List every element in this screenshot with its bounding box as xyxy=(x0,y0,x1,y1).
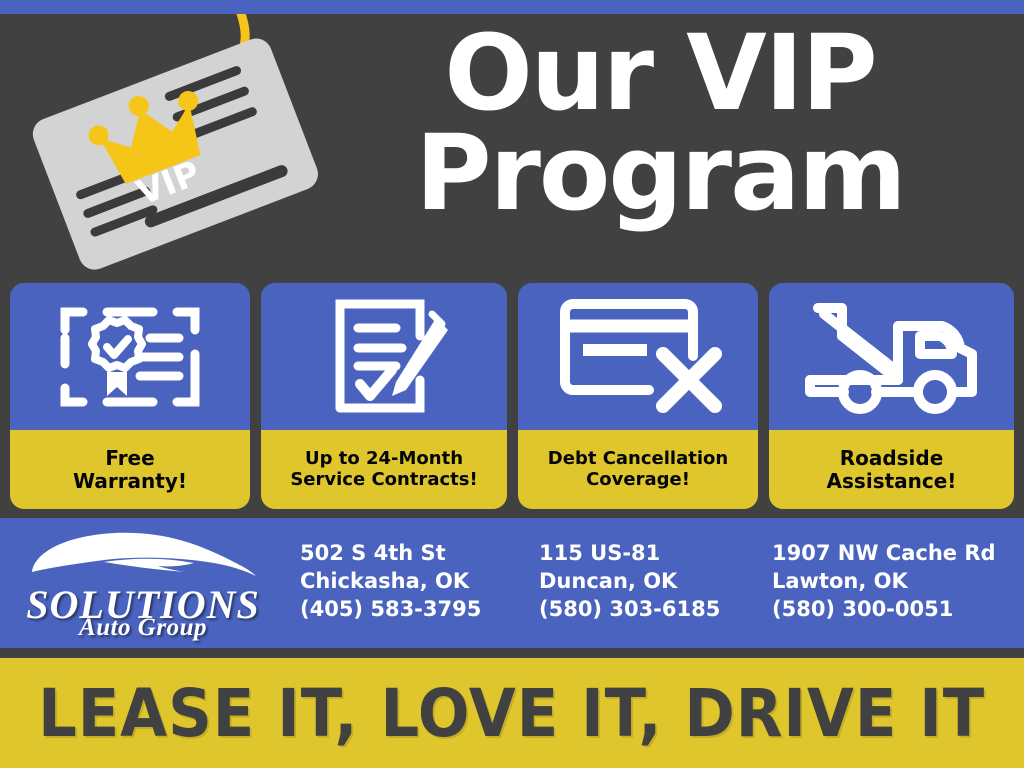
credit-card-cancel-icon xyxy=(553,296,723,418)
document-lines xyxy=(358,328,402,366)
location-street: 1907 NW Cache Rd xyxy=(772,540,996,568)
location-street: 115 US-81 xyxy=(539,540,720,568)
tow-truck-icon xyxy=(802,296,982,418)
location-chickasha[interactable]: 502 S 4th St Chickasha, OK (405) 583-379… xyxy=(300,540,481,624)
location-city: Duncan, OK xyxy=(539,568,720,596)
tagline-band: LEASE IT, LOVE IT, DRIVE IT xyxy=(0,658,1024,768)
location-lawton[interactable]: 1907 NW Cache Rd Lawton, OK (580) 300-00… xyxy=(772,540,996,624)
page-title-line2: Program xyxy=(360,124,960,224)
feature-label-line1: Free xyxy=(105,446,154,470)
contract-pen-icon xyxy=(314,296,454,418)
car-silhouette-logo-icon xyxy=(18,526,268,586)
vip-card-illustration: VIP xyxy=(10,14,340,276)
award-seal xyxy=(92,320,142,396)
document-outline xyxy=(340,304,420,408)
brand-logo[interactable]: SOLUTIONS Auto Group xyxy=(18,526,268,640)
location-city: Lawton, OK xyxy=(772,568,996,596)
feature-card-label: Up to 24-Month Service Contracts! xyxy=(261,430,507,509)
feature-card-icon-slot xyxy=(769,283,1014,430)
brand-subtitle: Auto Group xyxy=(18,614,268,642)
location-phone[interactable]: (405) 583-3795 xyxy=(300,596,481,624)
location-phone[interactable]: (580) 300-0051 xyxy=(772,596,996,624)
feature-card-roadside-assistance[interactable]: Roadside Assistance! xyxy=(769,283,1014,509)
page-title-line1: Our VIP xyxy=(360,24,960,124)
location-duncan[interactable]: 115 US-81 Duncan, OK (580) 303-6185 xyxy=(539,540,720,624)
feature-label-line1: Debt Cancellation xyxy=(548,448,728,469)
cancel-x-mark xyxy=(663,354,715,406)
feature-card-label: Debt Cancellation Coverage! xyxy=(518,430,758,509)
feature-label-line2: Assistance! xyxy=(827,469,957,493)
feature-card-icon-slot xyxy=(518,283,758,430)
feature-label-line1: Roadside xyxy=(840,446,944,470)
tagline-text: LEASE IT, LOVE IT, DRIVE IT xyxy=(39,675,986,752)
feature-label-line2: Coverage! xyxy=(586,469,690,490)
feature-card-free-warranty[interactable]: Free Warranty! xyxy=(10,283,250,509)
location-city: Chickasha, OK xyxy=(300,568,481,596)
feature-cards-row: Free Warranty! xyxy=(0,283,1024,509)
check-mark xyxy=(360,370,392,396)
certificate-icon xyxy=(55,298,205,416)
hero-section: VIP Our VIP Program xyxy=(0,14,1024,276)
vip-program-poster: VIP Our VIP Program xyxy=(0,0,1024,768)
feature-card-debt-cancellation[interactable]: Debt Cancellation Coverage! xyxy=(518,283,758,509)
card-number-bar xyxy=(583,344,647,356)
contact-band: SOLUTIONS Auto Group 502 S 4th St Chicka… xyxy=(0,518,1024,648)
feature-card-label: Free Warranty! xyxy=(10,430,250,509)
feature-card-service-contracts[interactable]: Up to 24-Month Service Contracts! xyxy=(261,283,507,509)
feature-card-label: Roadside Assistance! xyxy=(769,430,1014,509)
location-phone[interactable]: (580) 303-6185 xyxy=(539,596,720,624)
location-street: 502 S 4th St xyxy=(300,540,481,568)
feature-card-icon-slot xyxy=(261,283,507,430)
feature-label-line1: Up to 24-Month xyxy=(305,448,463,469)
page-title: Our VIP Program xyxy=(360,24,960,224)
feature-label-line2: Warranty! xyxy=(73,469,187,493)
feature-label-line2: Service Contracts! xyxy=(290,469,477,490)
feature-card-icon-slot xyxy=(10,283,250,430)
vip-badge-icon: VIP xyxy=(10,14,340,276)
